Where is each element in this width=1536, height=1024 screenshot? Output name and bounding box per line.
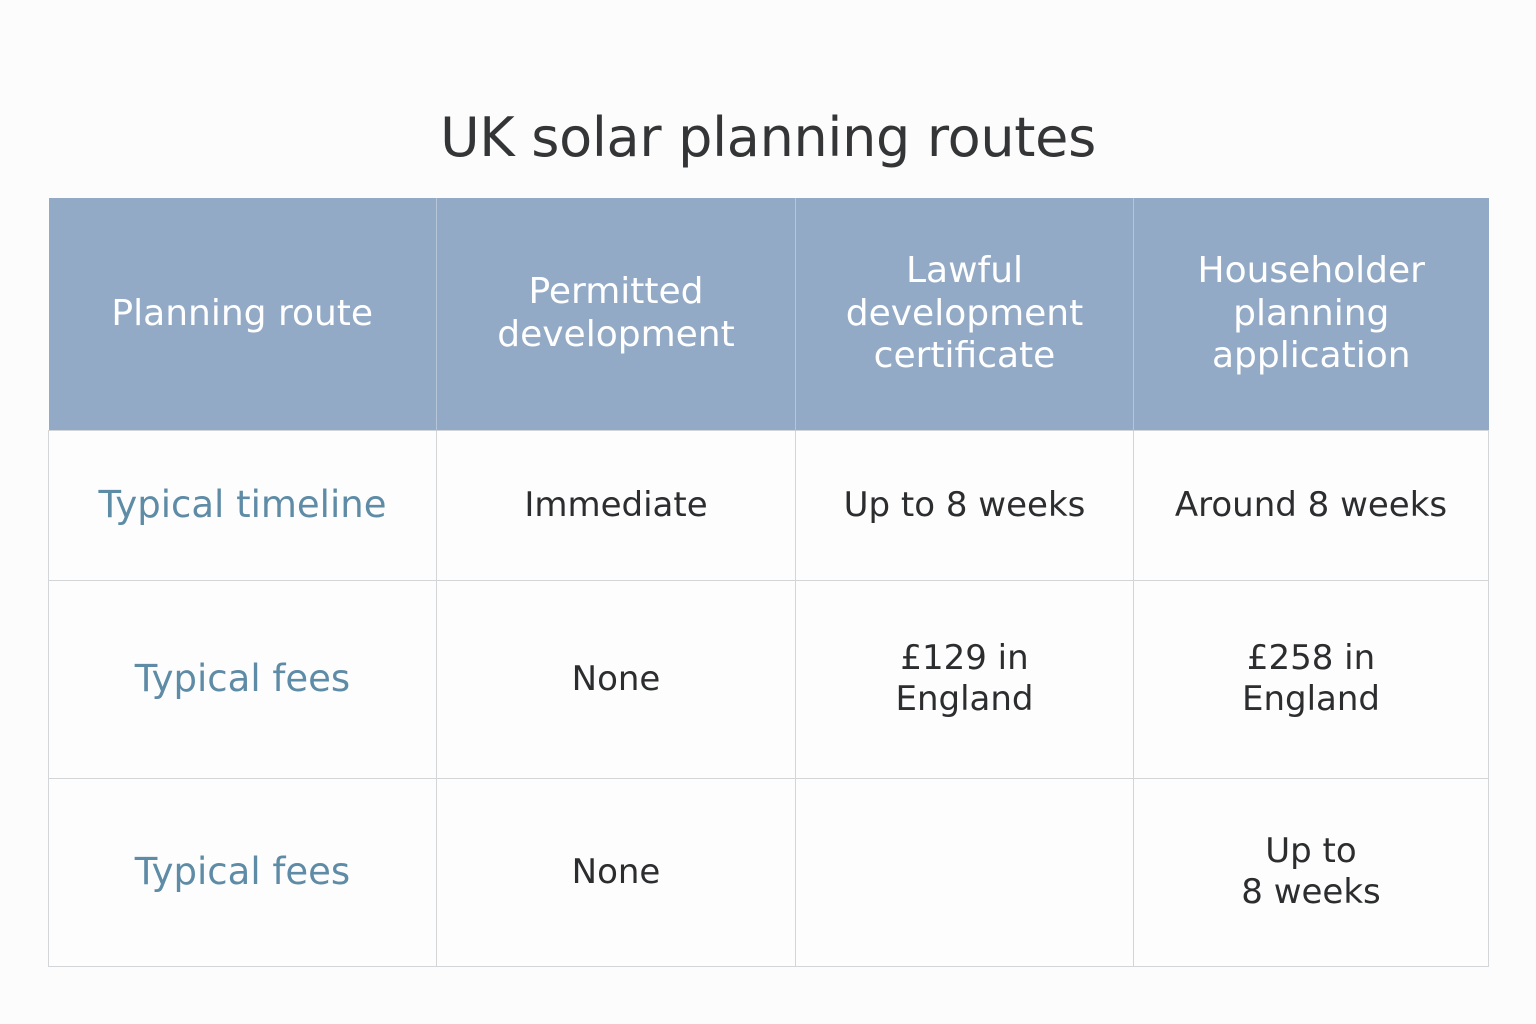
cell-line: Immediate xyxy=(451,485,781,526)
table-body: Typical timeline Immediate Up to 8 weeks… xyxy=(49,430,1489,966)
table-container: Planning route Permitted development Law… xyxy=(48,198,1488,966)
cell-timeline-householder-planning-application: Around 8 weeks xyxy=(1134,430,1489,580)
page-title: UK solar planning routes xyxy=(0,106,1536,169)
cell-line: £129 in xyxy=(810,638,1119,679)
row-label-typical-timeline: Typical timeline xyxy=(49,430,437,580)
row-label-typical-fees: Typical fees xyxy=(49,580,437,778)
table-header: Planning route Permitted development Law… xyxy=(49,198,1489,430)
column-header-householder-planning-application: Householder planning application xyxy=(1134,198,1489,430)
table-row: Typical timeline Immediate Up to 8 weeks… xyxy=(49,430,1489,580)
row-label-typical-fees-duplicate: Typical fees xyxy=(49,778,437,966)
cell-timeline-lawful-development-certificate: Up to 8 weeks xyxy=(796,430,1134,580)
cell-fees2-lawful-development-certificate xyxy=(796,778,1134,966)
page-root: UK solar planning routes Planning route … xyxy=(0,0,1536,1024)
cell-line: None xyxy=(451,659,781,700)
cell-line: Up to xyxy=(1148,831,1474,872)
cell-line: Around 8 weeks xyxy=(1148,485,1474,526)
table-row: Typical fees None Up to 8 weeks xyxy=(49,778,1489,966)
table-row: Typical fees None £129 in England £258 i… xyxy=(49,580,1489,778)
cell-timeline-permitted-development: Immediate xyxy=(437,430,796,580)
cell-fees2-householder-planning-application: Up to 8 weeks xyxy=(1134,778,1489,966)
cell-fees-lawful-development-certificate: £129 in England xyxy=(796,580,1134,778)
planning-routes-table: Planning route Permitted development Law… xyxy=(48,198,1489,967)
cell-line: England xyxy=(810,679,1119,720)
cell-line: None xyxy=(451,852,781,893)
column-header-planning-route: Planning route xyxy=(49,198,437,430)
cell-fees-householder-planning-application: £258 in England xyxy=(1134,580,1489,778)
table-header-row: Planning route Permitted development Law… xyxy=(49,198,1489,430)
cell-line: £258 in xyxy=(1148,638,1474,679)
column-header-permitted-development: Permitted development xyxy=(437,198,796,430)
cell-line: England xyxy=(1148,679,1474,720)
cell-line-empty xyxy=(810,872,1119,873)
cell-line: Up to 8 weeks xyxy=(810,485,1119,526)
column-header-lawful-development-certificate: Lawful development certificate xyxy=(796,198,1134,430)
cell-line: 8 weeks xyxy=(1148,872,1474,913)
cell-fees2-permitted-development: None xyxy=(437,778,796,966)
cell-fees-permitted-development: None xyxy=(437,580,796,778)
